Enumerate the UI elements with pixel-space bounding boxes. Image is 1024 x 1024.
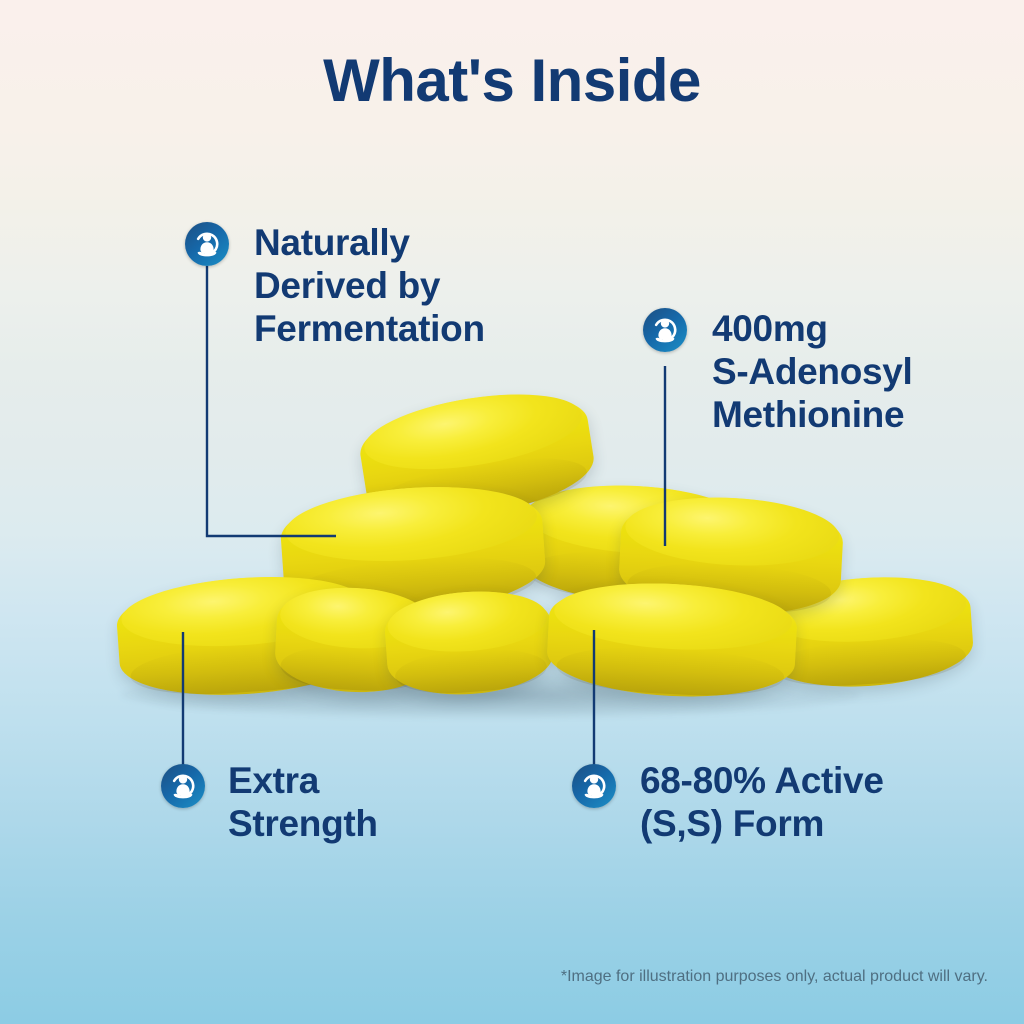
callout-label-active-form: 68-80% Active (S,S) Form — [640, 760, 980, 846]
callout-connector-lines — [0, 0, 1024, 1024]
callout-label-dosage: 400mg S-Adenosyl Methionine — [712, 308, 1012, 437]
callout-label-extra-strength: Extra Strength — [228, 760, 508, 846]
meditating-person-icon — [643, 308, 687, 352]
meditating-person-icon — [572, 764, 616, 808]
infographic-canvas: What's Inside — [0, 0, 1024, 1024]
callout-label-naturally-derived: Naturally Derived by Fermentation — [254, 222, 584, 351]
disclaimer-footnote: *Image for illustration purposes only, a… — [561, 968, 988, 986]
meditating-person-icon — [161, 764, 205, 808]
meditating-person-icon — [185, 222, 229, 266]
